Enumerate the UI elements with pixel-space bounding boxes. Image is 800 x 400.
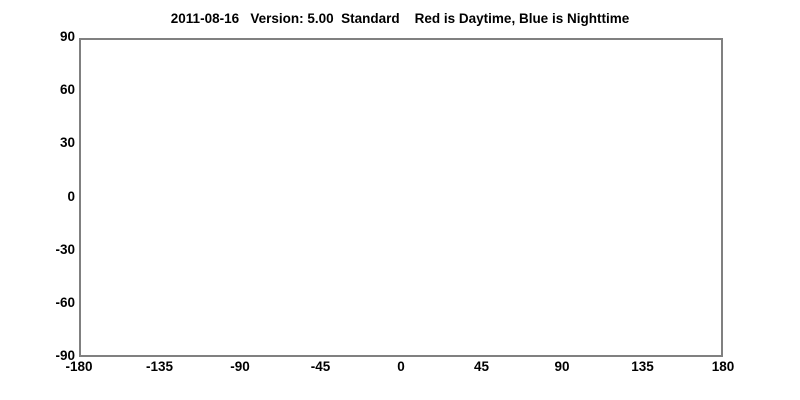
x-tick-label: -90 [200,359,280,374]
y-tick-label: -60 [13,295,75,310]
x-axis: -180-135-90-4504590135180 [0,359,800,383]
figure-title: 2011-08-16 Version: 5.00 Standard Red is… [0,11,800,26]
plot-area [79,38,723,357]
x-tick-label: 0 [361,359,441,374]
x-tick-label: 135 [603,359,683,374]
x-tick-label: -135 [120,359,200,374]
ground-track-map-figure: 2011-08-16 Version: 5.00 Standard Red is… [0,0,800,400]
plot-frame [79,38,723,357]
x-tick-label: -180 [39,359,119,374]
y-tick-label: 60 [13,82,75,97]
y-tick-label: -30 [13,242,75,257]
x-tick-label: 90 [522,359,602,374]
x-tick-label: -45 [281,359,361,374]
y-axis: 9060300-30-60-90 [0,38,75,357]
x-tick-label: 180 [683,359,763,374]
x-tick-label: 45 [442,359,522,374]
y-tick-label: 0 [13,189,75,204]
y-tick-label: 90 [13,29,75,44]
y-tick-label: 30 [13,135,75,150]
